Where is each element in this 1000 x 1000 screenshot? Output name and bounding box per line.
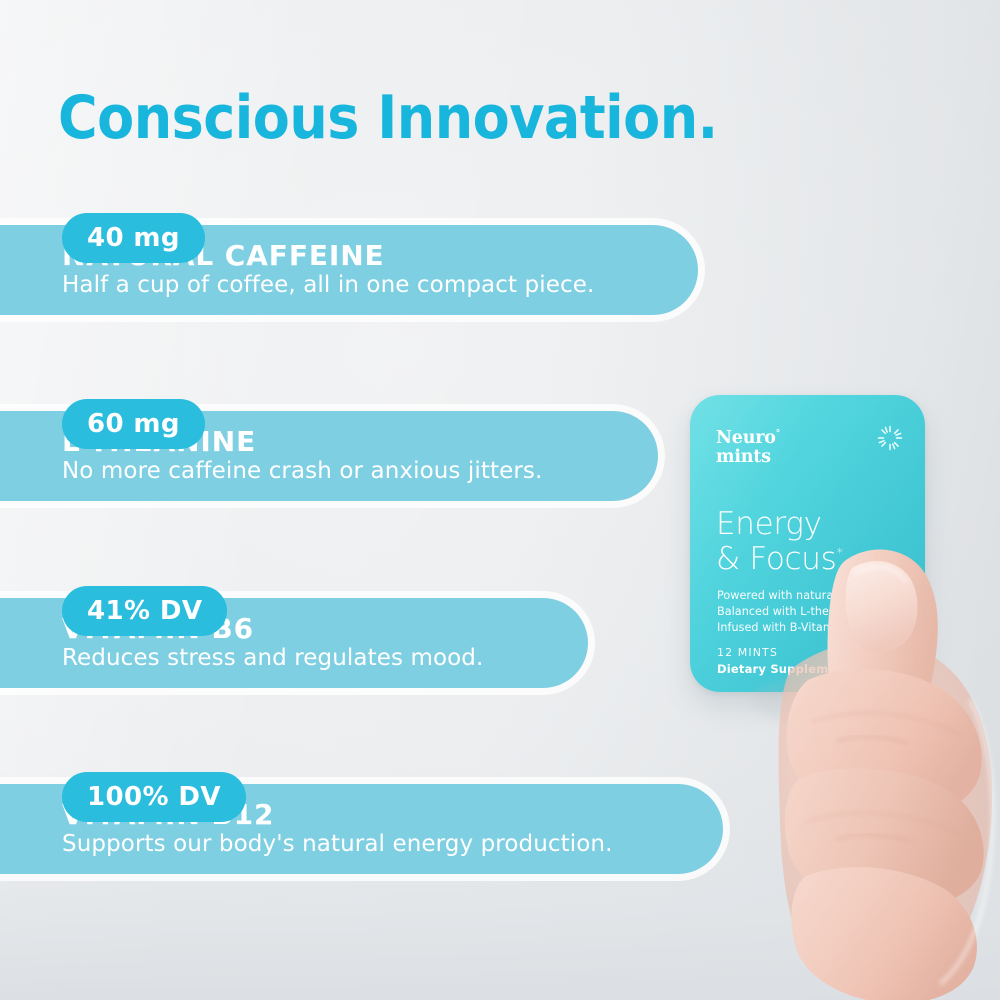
hand-index-fingernail	[846, 561, 918, 652]
page-title: Conscious Innovation.	[58, 88, 718, 148]
benefit-amount-badge-vitamin-b6: 41% DV	[62, 586, 227, 636]
benefit-description: Reduces stress and regulates mood.	[62, 645, 483, 673]
product-photo: Neuro° mints	[640, 370, 1000, 1000]
benefit-description: No more caffeine crash or anxious jitter…	[62, 458, 542, 486]
benefit-description: Half a cup of coffee, all in one compact…	[62, 272, 594, 300]
benefit-amount-badge-l-theanine: 60 mg	[62, 399, 205, 449]
benefit-amount-badge-vitamin-b12: 100% DV	[62, 772, 246, 822]
benefit-description: Supports our body's natural energy produ…	[62, 831, 613, 859]
hand-holding-product	[640, 370, 1000, 1000]
benefit-amount-badge-natural-caffeine: 40 mg	[62, 213, 205, 263]
infographic-canvas: Conscious Innovation. NATURAL CAFFEINE H…	[0, 0, 1000, 1000]
